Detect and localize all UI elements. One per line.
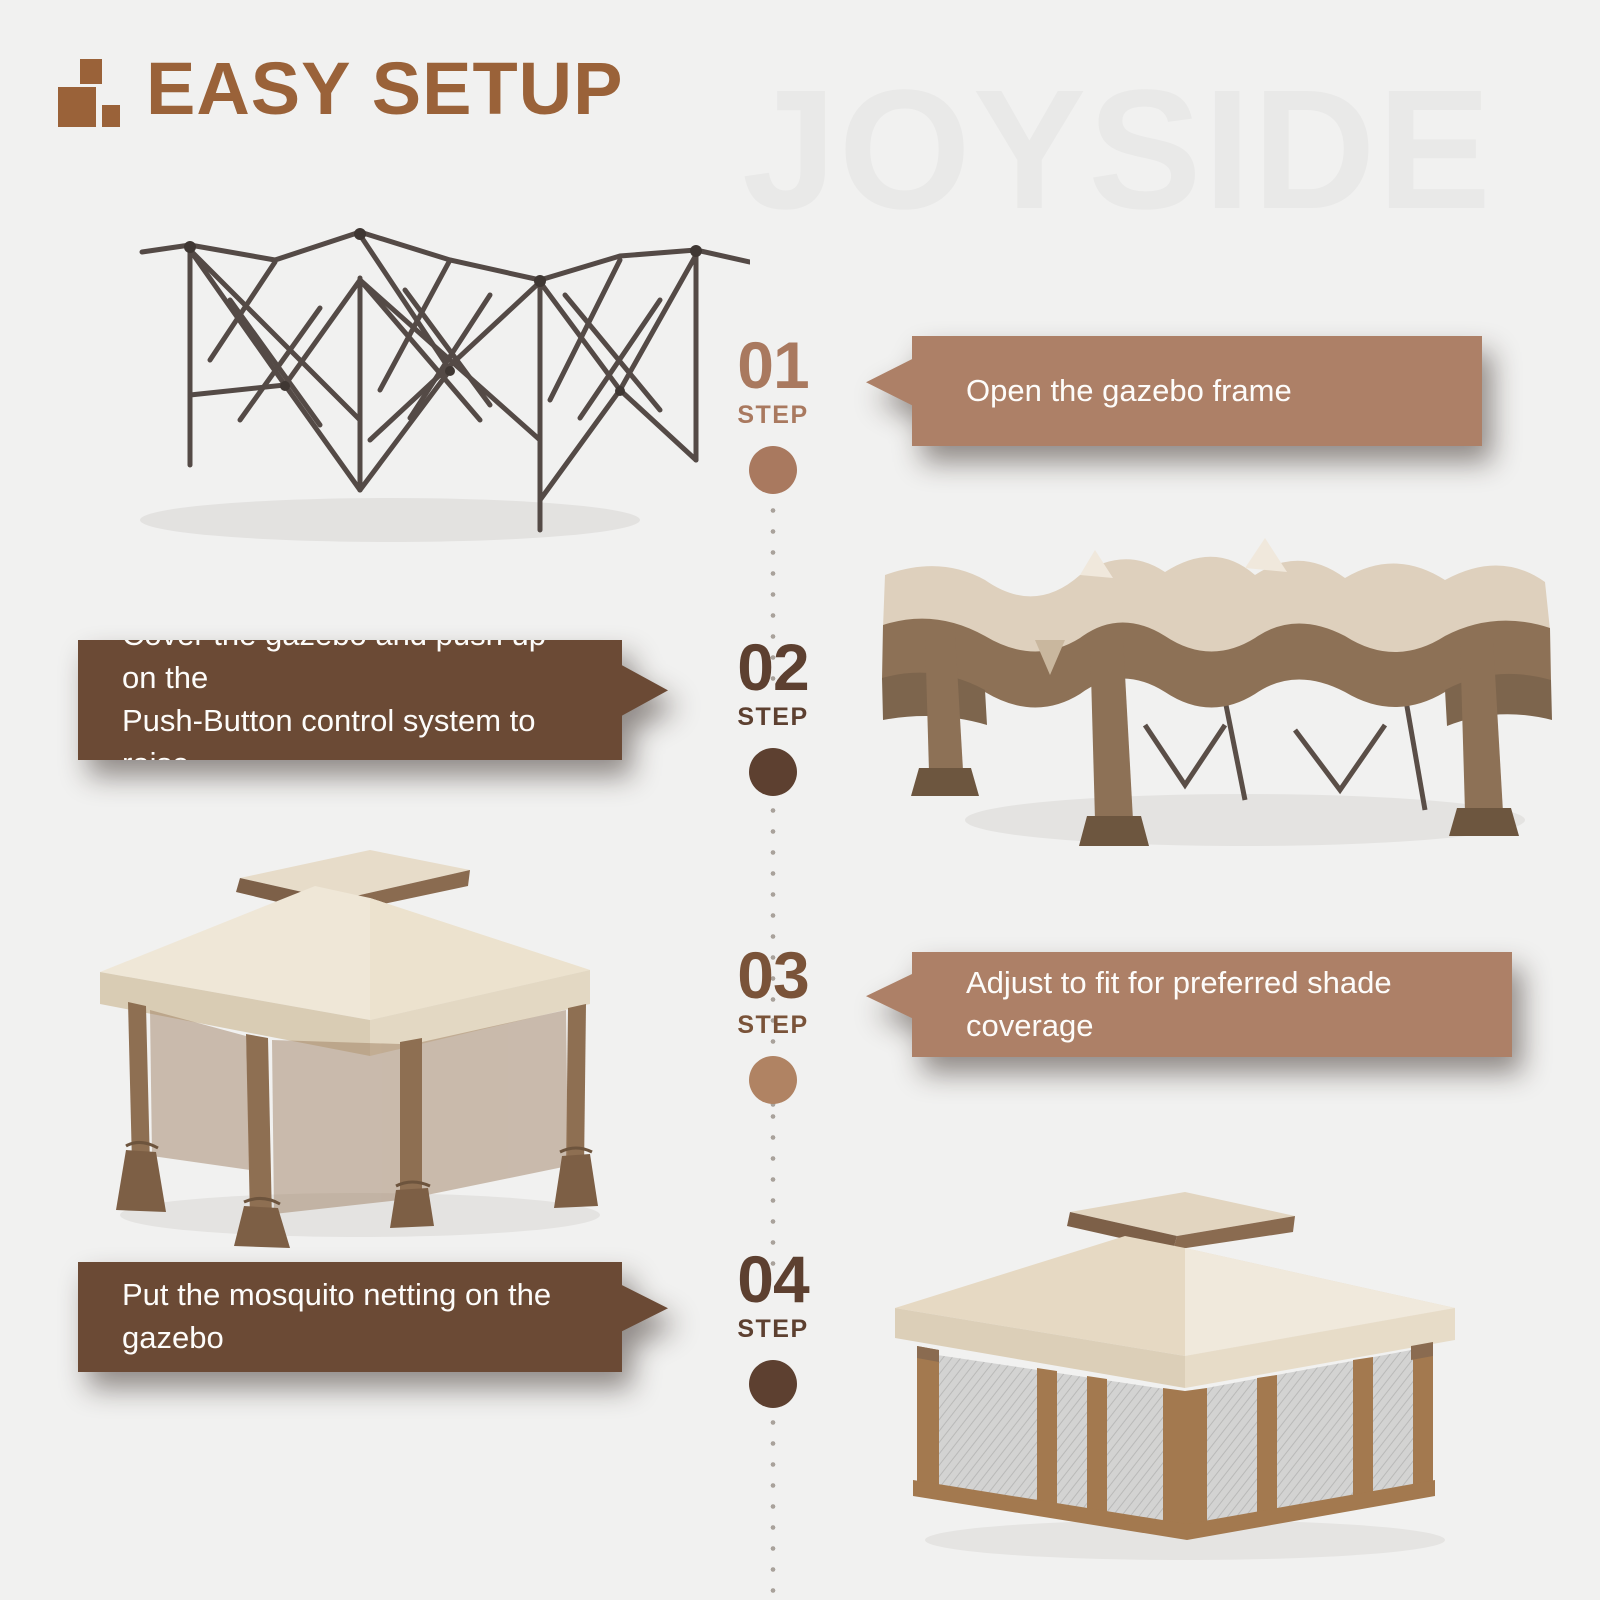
callout-body: Adjust to fit for preferred shade covera… — [866, 952, 1512, 1057]
brand-watermark: JOYSIDE — [742, 52, 1493, 248]
gazebo-canopy-draped-photo — [845, 520, 1585, 870]
step-dot — [749, 748, 797, 796]
step-number: 02 — [703, 636, 843, 699]
step-label: STEP — [703, 1011, 843, 1040]
step-number: 03 — [703, 944, 843, 1007]
callout-body: Cover the gazebo and push up on the Push… — [78, 640, 668, 760]
step-marker-02: 02 STEP — [703, 636, 843, 796]
step-marker-01: 01 STEP — [703, 334, 843, 494]
bar-chart-blocks-icon — [58, 53, 120, 125]
step-number: 04 — [703, 1248, 843, 1311]
step-label: STEP — [703, 401, 843, 430]
step-marker-03: 03 STEP — [703, 944, 843, 1104]
gazebo-frame-open-photo — [60, 190, 750, 550]
page-header: EASY SETUP — [58, 52, 623, 126]
step-dot — [749, 1056, 797, 1104]
callout-text: Put the mosquito netting on the gazebo — [122, 1274, 578, 1360]
callout-text: Adjust to fit for preferred shade covera… — [966, 962, 1476, 1048]
callout-step-01[interactable]: Open the gazebo frame — [866, 336, 1482, 446]
callout-body: Open the gazebo frame — [866, 336, 1482, 446]
step-number: 01 — [703, 334, 843, 397]
gazebo-raised-with-curtains-photo — [70, 820, 640, 1250]
step-dot — [749, 1360, 797, 1408]
callout-text: Cover the gazebo and push up on the Push… — [122, 614, 578, 785]
callout-step-03[interactable]: Adjust to fit for preferred shade covera… — [866, 952, 1512, 1057]
callout-body: Put the mosquito netting on the gazebo — [78, 1262, 668, 1372]
callout-text: Open the gazebo frame — [966, 370, 1292, 413]
callout-step-04[interactable]: Put the mosquito netting on the gazebo — [78, 1262, 668, 1372]
step-dot — [749, 446, 797, 494]
step-label: STEP — [703, 703, 843, 732]
infographic-canvas: JOYSIDE EASY SETUP — [0, 0, 1600, 1600]
step-label: STEP — [703, 1315, 843, 1344]
page-title: EASY SETUP — [146, 52, 623, 126]
gazebo-with-mosquito-netting-photo — [855, 1140, 1495, 1570]
step-marker-04: 04 STEP — [703, 1248, 843, 1408]
callout-step-02[interactable]: Cover the gazebo and push up on the Push… — [78, 640, 668, 760]
